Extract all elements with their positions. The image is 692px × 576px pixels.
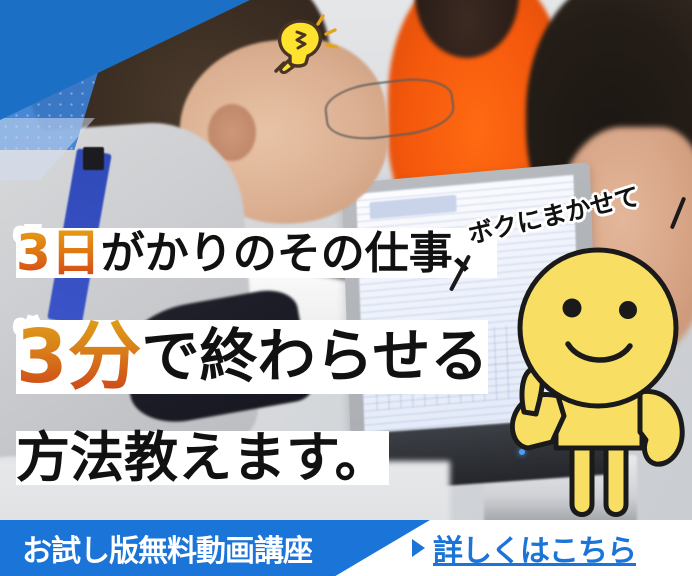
headline-3-text: 方法教えます。 — [16, 426, 389, 489]
cta-detail-link[interactable]: 詳しくはこちら — [412, 526, 636, 570]
headline-1-highlight: 3日 — [16, 224, 101, 282]
headline-2-highlight-wrap: 3分 — [16, 320, 142, 394]
headline-2-highlight: 3分 — [16, 314, 142, 400]
yellow-mascot-character — [494, 236, 692, 526]
cta-badge-label: お試し版無料動画講座 — [22, 526, 312, 570]
headline-1-rest: がかりのその仕事、 — [101, 228, 497, 279]
play-triangle-icon — [412, 539, 425, 557]
headline-line-1: 3日 がかりのその仕事、 — [0, 222, 511, 288]
promo-banner: 3日 がかりのその仕事、 3分 で終わらせる 方法教えます。 ボクにまかせて — [0, 0, 692, 576]
cta-detail-link-label: 詳しくはこちら — [433, 526, 636, 570]
headline-line-3: 方法教えます。 — [0, 424, 405, 496]
headline-1-highlight-wrap: 3日 — [16, 228, 101, 278]
cta-bar: お試し版無料動画講座 詳しくはこちら — [0, 520, 692, 576]
headline-line-2: 3分 で終わらせる — [0, 312, 504, 406]
photo-lanyard-clip — [83, 147, 104, 170]
lightbulb-icon — [262, 8, 342, 80]
headline-2-rest: で終わらせる — [142, 322, 489, 390]
